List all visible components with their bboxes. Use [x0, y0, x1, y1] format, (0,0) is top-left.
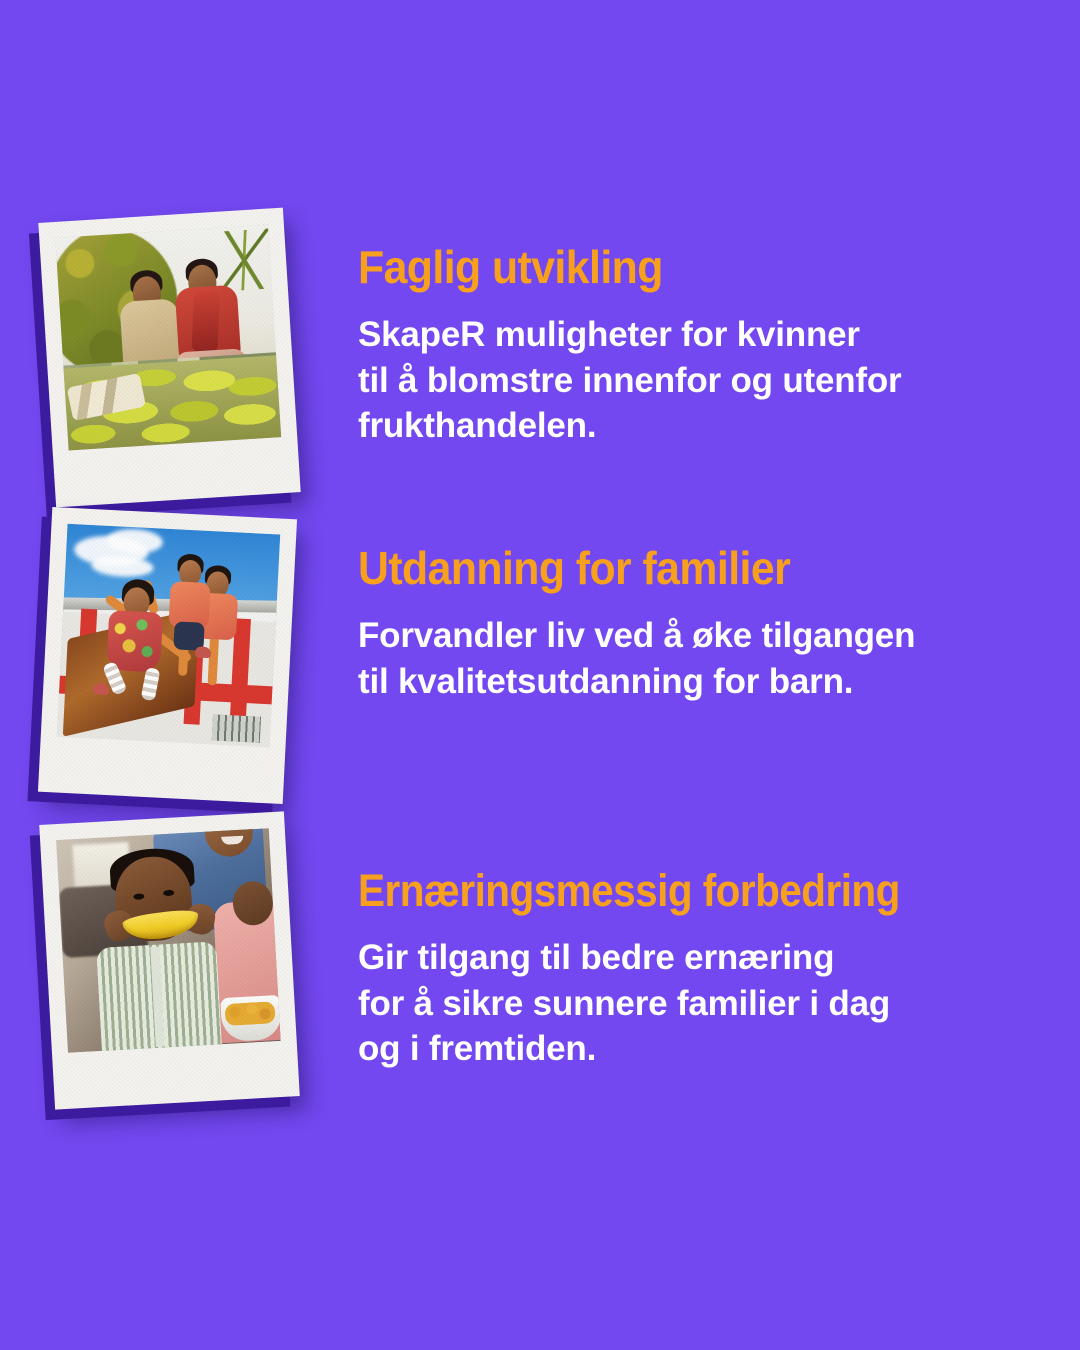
child-front	[105, 578, 183, 701]
polaroid-card-2[interactable]	[38, 507, 297, 804]
feature-block-utdanning-for-familier: Utdanning for familier Forvandler liv ve…	[358, 545, 915, 704]
body-ernaeringsmessig-forbedring: Gir tilgang til bedre ernæring for å sik…	[358, 935, 960, 1072]
heading-utdanning-for-familier: Utdanning for familier	[358, 545, 876, 591]
body-utdanning-for-familier: Forvandler liv ved å øke tilgangen til k…	[358, 613, 915, 704]
text-column: Faglig utvikling SkapeR muligheter for k…	[358, 0, 1058, 1350]
women-with-bananas-photo	[55, 225, 281, 451]
polaroid-card-1[interactable]	[38, 208, 300, 508]
wall-vent	[212, 714, 261, 742]
striped-sock	[141, 667, 161, 701]
photo-scene-1	[55, 225, 281, 451]
photo-scene-2	[57, 524, 281, 748]
poster-canvas: Faglig utvikling SkapeR muligheter for k…	[0, 0, 1080, 1350]
polaroid-photo-stack	[0, 0, 380, 1350]
heading-faglig-utvikling: Faglig utvikling	[358, 244, 863, 290]
sari-drape	[192, 290, 221, 353]
polaroid-card-3[interactable]	[39, 811, 300, 1109]
shoe	[195, 646, 212, 658]
shoe	[93, 683, 110, 695]
children-on-slide-photo	[57, 524, 281, 748]
cereal	[225, 1001, 276, 1026]
feature-block-ernaeringsmessig-forbedring: Ernæringsmessig forbedring Gir tilgang t…	[358, 868, 960, 1072]
heading-ernaeringsmessig-forbedring: Ernæringsmessig forbedring	[358, 868, 900, 913]
boy-with-banana-photo	[56, 828, 281, 1053]
photo-scene-3	[56, 828, 281, 1053]
body-faglig-utvikling: SkapeR muligheter for kvinner til å blom…	[358, 312, 901, 449]
feature-block-faglig-utvikling: Faglig utvikling SkapeR muligheter for k…	[358, 244, 901, 449]
